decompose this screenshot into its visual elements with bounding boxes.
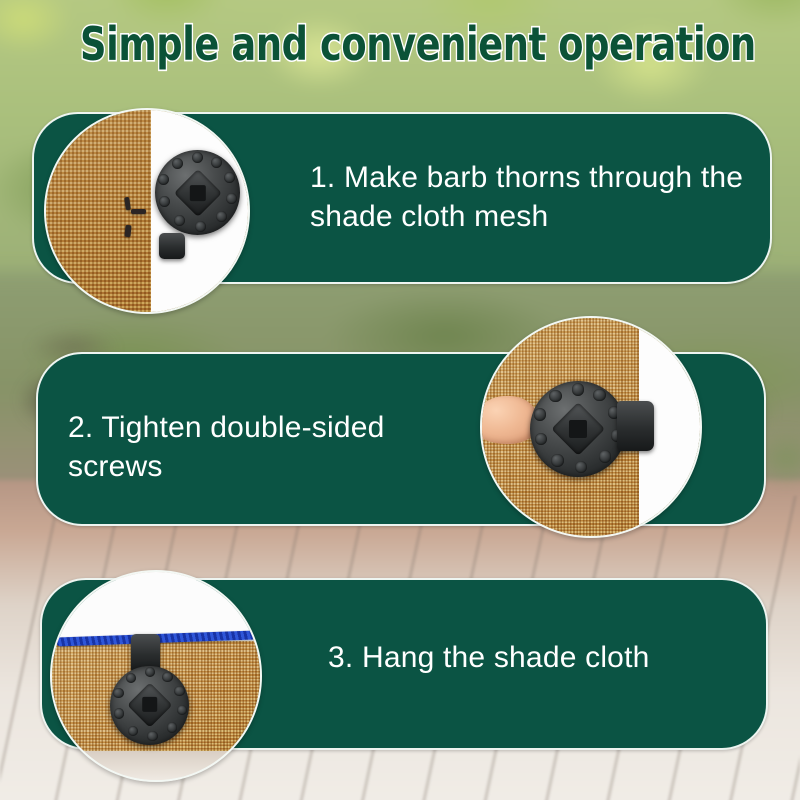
- step-3-text: 3. Hang the shade cloth: [328, 638, 748, 677]
- round-clip-disc: [530, 381, 626, 477]
- page-title: Simple and convenient operation: [80, 18, 720, 70]
- deck-background: [52, 751, 260, 780]
- round-clip-disc: [110, 666, 189, 745]
- step-1-photo: [44, 108, 250, 314]
- step-1-text: 1. Make barb thorns through the shade cl…: [310, 158, 760, 236]
- clip-bracket: [159, 233, 185, 259]
- step-2-text: 2. Tighten double-sided screws: [68, 408, 468, 486]
- step-3-photo: [50, 570, 262, 782]
- step-2-photo: [480, 316, 702, 538]
- round-clip-disc: [155, 150, 240, 235]
- product-infographic-poster: Simple and convenient operation 1. Make …: [0, 0, 800, 800]
- side-clip-bracket: [617, 401, 654, 451]
- barb-thorn-icon: [131, 209, 146, 214]
- barb-thorn-icon: [124, 225, 131, 238]
